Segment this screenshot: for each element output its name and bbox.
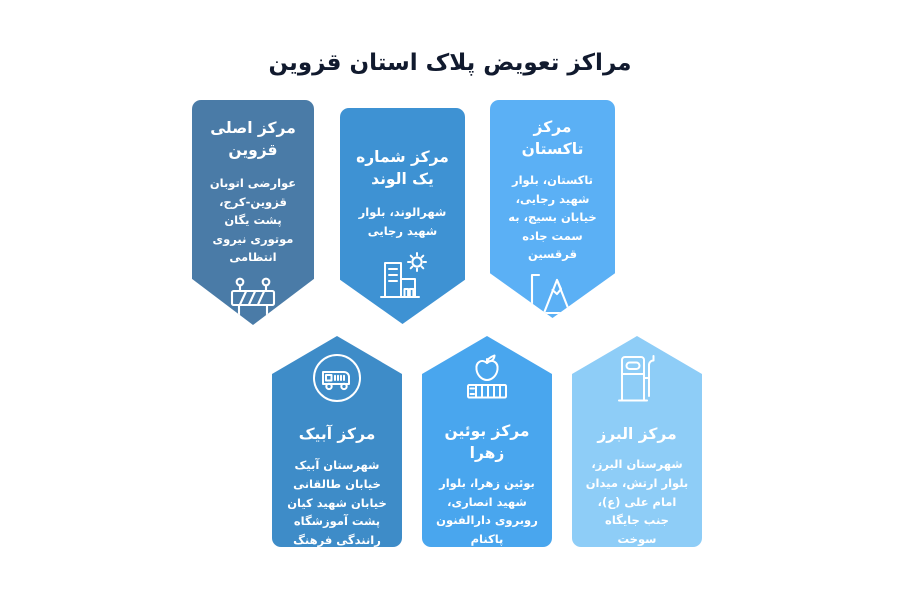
- center-card-title: مرکز آبیک: [299, 423, 376, 445]
- centers-board: مرکز اصلی قزوین عوارضی اتوبان قزوین-کرج،…: [0, 0, 900, 600]
- infographic-page: مراکز تعویض پلاک استان قزوین مرکز اصلی ق…: [0, 0, 900, 600]
- fuel-pump-icon: [613, 353, 661, 403]
- building-sun-icon: [375, 252, 431, 300]
- center-card-takestan[interactable]: مرکز تاکستان تاکستان، بلوار شهید رجایی، …: [490, 100, 615, 318]
- road-barrier-icon: [227, 277, 279, 323]
- center-card-description: بوئین زهرا، بلوار شهید انصاری، روبروی دا…: [434, 474, 540, 549]
- center-card-title: مرکز بوئین زهرا: [434, 420, 540, 465]
- center-card-description: عوارضی اتوبان قزوین-کرج، پشت یگان موتوری…: [204, 174, 302, 267]
- center-card-alborz[interactable]: مرکز البرز شهرستان البرز، بلوار ارتش، می…: [572, 336, 702, 547]
- center-card-description: شهرالوند، بلوار شهید رجایی: [352, 203, 453, 240]
- center-card-title: مرکز شماره یک الوند: [352, 146, 453, 191]
- bus-circle-icon: [312, 353, 362, 403]
- center-card-description: شهرستان البرز، بلوار ارتش، میدان امام عل…: [584, 455, 690, 548]
- center-card-main-qazvin[interactable]: مرکز اصلی قزوین عوارضی اتوبان قزوین-کرج،…: [192, 100, 314, 325]
- center-card-abyek[interactable]: مرکز آبیک شهرستان آبیک خیابان طالقانی خی…: [272, 336, 402, 547]
- center-card-title: مرکز اصلی قزوین: [204, 117, 302, 162]
- apple-books-icon: [460, 352, 514, 402]
- center-card-description: تاکستان، بلوار شهید رجایی، خیابان بسیج، …: [502, 171, 603, 264]
- center-card-alvand-no-one[interactable]: مرکز شماره یک الوند شهرالوند، بلوار شهید…: [340, 108, 465, 324]
- center-card-title: مرکز تاکستان: [502, 116, 603, 161]
- mountain-icon: [527, 272, 579, 316]
- center-card-buin-zahra[interactable]: مرکز بوئین زهرا بوئین زهرا، بلوار شهید ا…: [422, 336, 552, 547]
- center-card-title: مرکز البرز: [597, 423, 676, 445]
- center-card-description: شهرستان آبیک خیابان طالقانی خیابان شهید …: [284, 456, 390, 549]
